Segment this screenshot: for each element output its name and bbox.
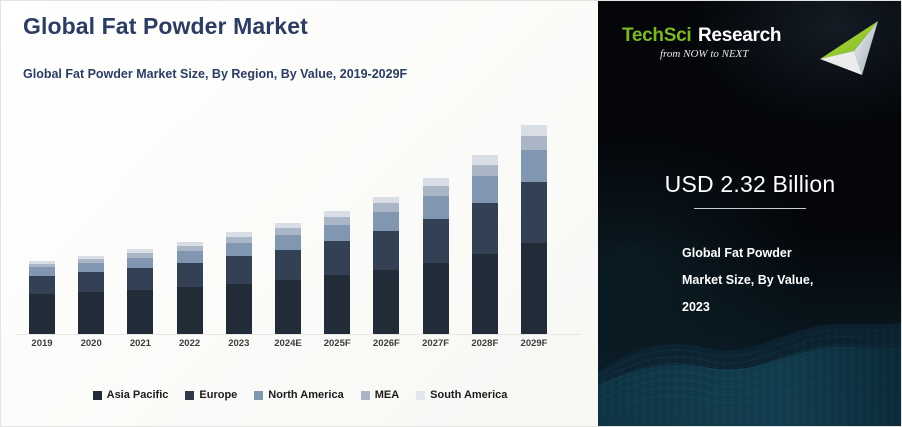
bar-segment-north-america-2028F: [472, 176, 498, 202]
bar-2020[interactable]: [78, 256, 104, 334]
bar-segment-south-america-2026F: [373, 197, 399, 204]
x-axis-label-2024E: 2024E: [265, 338, 311, 349]
bar-2021[interactable]: [127, 249, 153, 334]
legend-swatch-icon: [416, 391, 425, 400]
bar-2025F[interactable]: [324, 211, 350, 334]
bar-segment-north-america-2019: [29, 267, 55, 275]
caption-line-1: Global Fat Powder: [682, 240, 882, 267]
bar-segment-mea-2025F: [324, 217, 350, 224]
bar-2022[interactable]: [177, 242, 203, 334]
bar-segment-mea-2029F: [521, 136, 547, 150]
x-axis-label-2021: 2021: [117, 338, 163, 349]
bar-segment-north-america-2022: [177, 251, 203, 263]
svg-text:TechSci: TechSci: [622, 25, 691, 46]
bar-segment-europe-2026F: [373, 231, 399, 269]
legend-item-north-america[interactable]: North America: [254, 389, 343, 401]
bar-segment-south-america-2028F: [472, 155, 498, 164]
bar-segment-asia-pacific-2023: [226, 284, 252, 334]
bar-segment-asia-pacific-2019: [29, 294, 55, 334]
page-title: Global Fat Powder Market: [23, 13, 308, 40]
infographic-page: Global Fat Powder Market Global Fat Powd…: [0, 0, 902, 427]
bar-segment-north-america-2024E: [275, 235, 301, 250]
legend-item-mea[interactable]: MEA: [361, 389, 399, 401]
bar-segment-europe-2019: [29, 276, 55, 295]
caption-line-3: 2023: [682, 294, 882, 321]
highlight-caption: Global Fat Powder Market Size, By Value,…: [682, 240, 882, 321]
bar-segment-europe-2023: [226, 256, 252, 283]
bar-segment-north-america-2023: [226, 243, 252, 256]
bar-segment-europe-2029F: [521, 182, 547, 243]
bar-segment-mea-2026F: [373, 203, 399, 211]
bar-segment-europe-2020: [78, 272, 104, 292]
bar-segment-asia-pacific-2025F: [324, 275, 350, 334]
legend-swatch-icon: [93, 391, 102, 400]
stacked-bar-chart: [1, 121, 598, 336]
chart-legend: Asia PacificEuropeNorth AmericaMEASouth …: [1, 389, 598, 401]
bar-segment-north-america-2029F: [521, 150, 547, 182]
x-axis-label-2027F: 2027F: [413, 338, 459, 349]
bar-2019[interactable]: [29, 261, 55, 334]
bar-segment-europe-2021: [127, 268, 153, 290]
bar-segment-north-america-2025F: [324, 225, 350, 242]
x-axis-label-2019: 2019: [19, 338, 65, 349]
bar-segment-asia-pacific-2020: [78, 292, 104, 334]
bar-segment-mea-2028F: [472, 165, 498, 177]
legend-swatch-icon: [361, 391, 370, 400]
bar-segment-europe-2025F: [324, 241, 350, 275]
bar-segment-north-america-2026F: [373, 212, 399, 231]
bar-segment-south-america-2027F: [423, 178, 449, 186]
legend-label: Asia Pacific: [107, 389, 169, 401]
bar-segment-asia-pacific-2021: [127, 290, 153, 334]
chart-panel: Global Fat Powder Market Global Fat Powd…: [0, 0, 598, 427]
svg-text:Research: Research: [698, 25, 781, 46]
x-axis-label-2025F: 2025F: [314, 338, 360, 349]
bar-segment-asia-pacific-2024E: [275, 280, 301, 334]
svg-text:from NOW to NEXT: from NOW to NEXT: [660, 48, 749, 60]
logo-wordmark: TechSci Research from NOW to NEXT: [622, 15, 802, 67]
x-axis-label-2020: 2020: [68, 338, 114, 349]
legend-item-south-america[interactable]: South America: [416, 389, 507, 401]
bar-segment-europe-2024E: [275, 250, 301, 280]
chart-subtitle: Global Fat Powder Market Size, By Region…: [23, 67, 407, 81]
x-axis-label-2026F: 2026F: [363, 338, 409, 349]
bar-segment-asia-pacific-2029F: [521, 243, 547, 334]
x-axis-label-2023: 2023: [216, 338, 262, 349]
bar-segment-south-america-2029F: [521, 125, 547, 136]
chart-plot-area: [1, 121, 598, 334]
chart-baseline: [15, 334, 581, 335]
bar-segment-north-america-2020: [78, 263, 104, 272]
bar-2024E[interactable]: [275, 223, 301, 334]
legend-swatch-icon: [254, 391, 263, 400]
caption-line-2: Market Size, By Value,: [682, 267, 882, 294]
legend-label: MEA: [375, 389, 399, 401]
x-axis-label-2029F: 2029F: [511, 338, 557, 349]
bar-segment-mea-2027F: [423, 186, 449, 196]
techsci-research-logo: TechSci Research from NOW to NEXT: [598, 15, 902, 89]
bar-segment-north-america-2021: [127, 258, 153, 268]
highlight-divider: [694, 208, 806, 209]
bar-segment-europe-2028F: [472, 203, 498, 255]
legend-label: Europe: [199, 389, 237, 401]
bar-2027F[interactable]: [423, 178, 449, 334]
highlight-panel: TechSci Research from NOW to NEXT: [598, 0, 902, 427]
chart-x-axis: 201920202021202220232024E2025F2026F2027F…: [1, 338, 598, 354]
bar-segment-asia-pacific-2027F: [423, 263, 449, 334]
bar-segment-asia-pacific-2028F: [472, 254, 498, 334]
bar-segment-asia-pacific-2022: [177, 287, 203, 334]
bar-segment-europe-2022: [177, 263, 203, 287]
bar-2023[interactable]: [226, 232, 252, 334]
legend-swatch-icon: [185, 391, 194, 400]
x-axis-label-2022: 2022: [167, 338, 213, 349]
bar-2028F[interactable]: [472, 155, 498, 334]
x-axis-label-2028F: 2028F: [462, 338, 508, 349]
legend-item-asia-pacific[interactable]: Asia Pacific: [93, 389, 169, 401]
highlight-value: USD 2.32 Billion: [598, 171, 902, 198]
logo-arrow-icon: [790, 17, 882, 83]
bar-2029F[interactable]: [521, 125, 547, 334]
bar-segment-asia-pacific-2026F: [373, 270, 399, 334]
bar-segment-north-america-2027F: [423, 196, 449, 219]
legend-item-europe[interactable]: Europe: [185, 389, 237, 401]
bar-segment-europe-2027F: [423, 219, 449, 263]
legend-label: South America: [430, 389, 507, 401]
legend-label: North America: [268, 389, 343, 401]
bar-2026F[interactable]: [373, 197, 399, 334]
